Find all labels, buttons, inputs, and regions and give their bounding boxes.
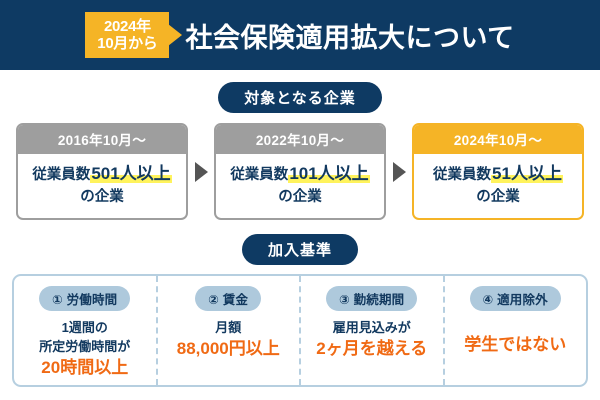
company-card-threshold: 101人以上 bbox=[288, 164, 369, 183]
criteria-emphasis: 学生ではない bbox=[464, 333, 566, 357]
criteria-number: ④ bbox=[483, 293, 494, 307]
company-card-2024: 2024年10月〜 従業員数51人以上 の企業 bbox=[412, 123, 584, 220]
criteria-label: 賃金 bbox=[223, 293, 248, 307]
criteria-item-exemption: ④ 適用除外 学生ではない bbox=[443, 276, 587, 385]
company-card-2022: 2022年10月〜 従業員数101人以上 の企業 bbox=[214, 123, 386, 220]
criteria-item-working-hours: ① 労働時間 1週間の 所定労働時間が 20時間以上 bbox=[14, 276, 156, 385]
arrow-separator-2 bbox=[386, 162, 412, 182]
company-card-body: 従業員数501人以上 の企業 bbox=[18, 154, 186, 218]
criteria-item-wage: ② 賃金 月額 88,000円以上 bbox=[156, 276, 300, 385]
criteria-pill: ② 賃金 bbox=[195, 286, 261, 311]
page-header: 2024年 10月から 社会保険適用拡大について bbox=[0, 0, 600, 70]
criteria-panel: ① 労働時間 1週間の 所定労働時間が 20時間以上 ② 賃金 月額 88,00… bbox=[12, 274, 588, 387]
companies-section-pill: 対象となる企業 bbox=[218, 82, 382, 113]
company-card-body: 従業員数51人以上 の企業 bbox=[414, 154, 582, 218]
criteria-number: ① bbox=[52, 293, 63, 307]
company-card-period: 2024年10月〜 bbox=[414, 125, 582, 154]
criteria-line2: 所定労働時間が bbox=[39, 339, 130, 354]
criteria-label: 労働時間 bbox=[67, 293, 118, 307]
company-card-threshold: 501人以上 bbox=[90, 164, 171, 183]
company-card-suffix: の企業 bbox=[278, 189, 322, 205]
criteria-label: 適用除外 bbox=[497, 293, 548, 307]
company-card-suffix: の企業 bbox=[476, 189, 520, 205]
criteria-pill: ① 労働時間 bbox=[39, 286, 130, 311]
company-card-prefix: 従業員数 bbox=[230, 167, 288, 183]
criteria-pill: ③ 勤続期間 bbox=[326, 286, 417, 311]
criteria-pill: ④ 適用除外 bbox=[470, 286, 561, 311]
page-title: 社会保険適用拡大について bbox=[185, 16, 514, 55]
company-card-period: 2022年10月〜 bbox=[216, 125, 384, 154]
criteria-number: ② bbox=[208, 293, 219, 307]
company-card-period: 2016年10月〜 bbox=[18, 125, 186, 154]
criteria-emphasis: 20時間以上 bbox=[39, 356, 130, 380]
criteria-section-heading: 加入基準 bbox=[0, 234, 600, 265]
criteria-emphasis: 88,000円以上 bbox=[177, 337, 280, 361]
company-card-2016: 2016年10月〜 従業員数501人以上 の企業 bbox=[16, 123, 188, 220]
criteria-description: 月額 88,000円以上 bbox=[177, 318, 280, 361]
criteria-item-tenure: ③ 勤続期間 雇用見込みが 2ヶ月を越える bbox=[299, 276, 443, 385]
company-card-row: 2016年10月〜 従業員数501人以上 の企業 2022年10月〜 従業員数1… bbox=[0, 123, 600, 220]
criteria-description: 学生ではない bbox=[464, 333, 566, 357]
company-card-threshold: 51人以上 bbox=[491, 164, 563, 183]
triangle-right-icon bbox=[393, 162, 406, 182]
criteria-description: 雇用見込みが 2ヶ月を越える bbox=[316, 318, 427, 361]
criteria-section-pill: 加入基準 bbox=[242, 234, 358, 265]
criteria-description: 1週間の 所定労働時間が 20時間以上 bbox=[39, 318, 130, 380]
criteria-line1: 月額 bbox=[215, 320, 241, 335]
criteria-line1: 雇用見込みが bbox=[333, 320, 411, 335]
company-card-body: 従業員数101人以上 の企業 bbox=[216, 154, 384, 218]
companies-section-heading: 対象となる企業 bbox=[0, 82, 600, 113]
effective-date-badge: 2024年 10月から bbox=[85, 12, 169, 58]
criteria-label: 勤続期間 bbox=[354, 293, 405, 307]
header-inner: 2024年 10月から 社会保険適用拡大について bbox=[85, 12, 514, 58]
criteria-line1: 1週間の bbox=[62, 320, 108, 335]
company-card-suffix: の企業 bbox=[80, 189, 124, 205]
triangle-right-icon bbox=[195, 162, 208, 182]
criteria-emphasis: 2ヶ月を越える bbox=[316, 337, 427, 361]
arrow-separator-1 bbox=[188, 162, 214, 182]
infographic-page: { "header": { "badge_text": "2024年\n10月か… bbox=[0, 0, 600, 400]
company-card-prefix: 従業員数 bbox=[433, 167, 491, 183]
company-card-prefix: 従業員数 bbox=[32, 167, 90, 183]
criteria-number: ③ bbox=[339, 293, 350, 307]
